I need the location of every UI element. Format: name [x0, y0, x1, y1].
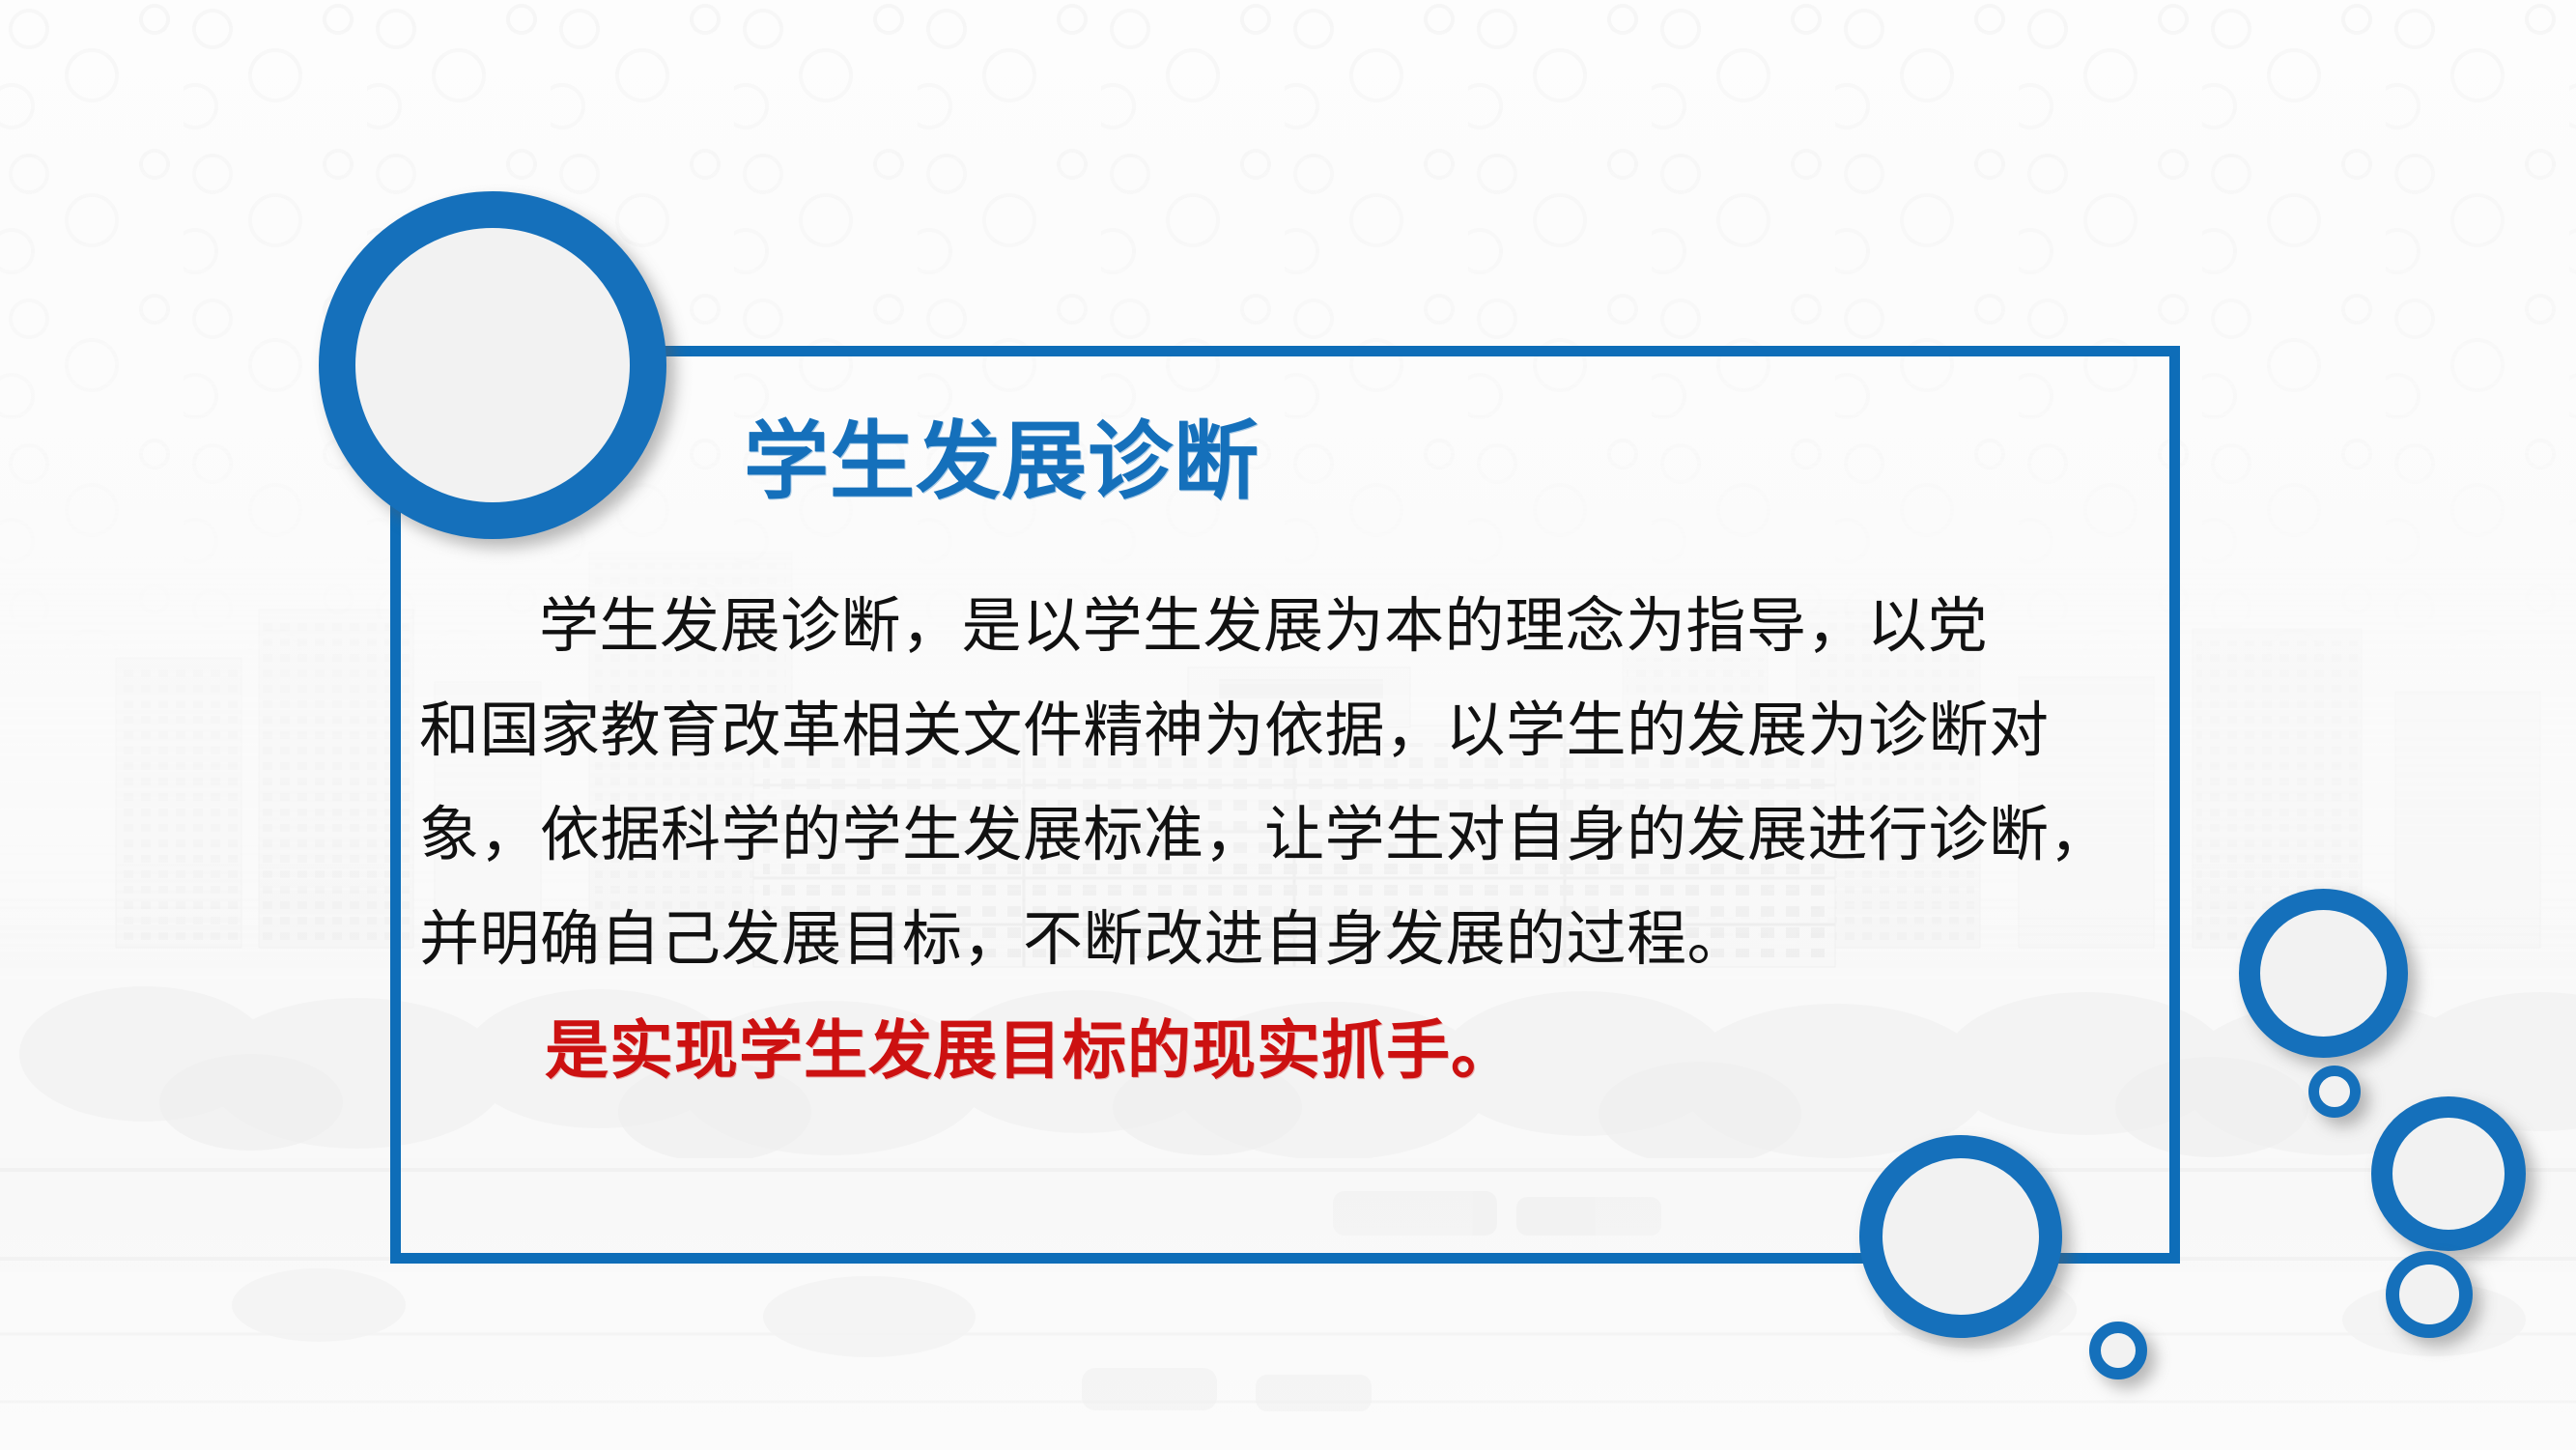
right-upper-ring-icon: [2239, 889, 2408, 1058]
right-lower-ring-icon: [2371, 1096, 2526, 1251]
page-title: 学生发展诊断: [744, 419, 1260, 504]
body-line: 象，依据科学的学生发展标准，让学生对自身的发展进行诊断，: [419, 782, 2167, 887]
highlight-statement: 是实现学生发展目标的现实抓手。: [545, 1017, 1515, 1084]
bottom-small-ring-icon: [2386, 1251, 2473, 1338]
content-area: 学生发展诊断 学生发展诊断，是以学生发展为本的理念为指导，以党 和国家教育改革相…: [390, 346, 2180, 1264]
right-tiny-ring-icon: [2308, 1066, 2361, 1118]
body-line: 并明确自己发展目标，不断改进自身发展的过程。: [419, 887, 2167, 991]
body-line: 和国家教育改革相关文件精神为依据，以学生的发展为诊断对: [419, 678, 2167, 782]
body-paragraph: 学生发展诊断，是以学生发展为本的理念为指导，以党 和国家教育改革相关文件精神为依…: [419, 574, 2167, 991]
far-small-ring-icon: [2089, 1322, 2147, 1379]
hero-ring-icon: [319, 191, 666, 539]
body-line: 学生发展诊断，是以学生发展为本的理念为指导，以党: [419, 574, 2167, 678]
slide-canvas: 学生发展诊断 学生发展诊断，是以学生发展为本的理念为指导，以党 和国家教育改革相…: [0, 0, 2576, 1450]
bottom-mid-ring-icon: [1859, 1135, 2062, 1338]
